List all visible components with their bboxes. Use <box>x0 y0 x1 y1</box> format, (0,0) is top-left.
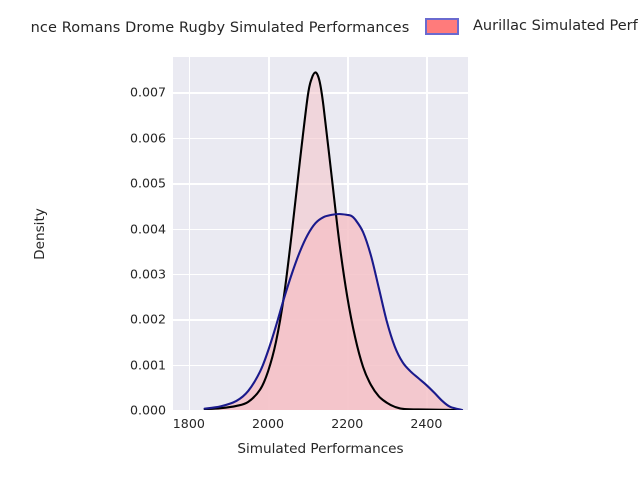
plot-area <box>173 57 468 410</box>
chart-legend: Aurillac Simulated Perf <box>425 12 640 40</box>
density-fill-1 <box>205 214 462 410</box>
y-tick-label-3: 0.003 <box>108 266 166 281</box>
x-tick-label-0: 1800 <box>159 416 219 431</box>
density-curves <box>173 57 468 410</box>
y-tick-label-0: 0.000 <box>108 403 166 418</box>
x-axis-ticks: 1800200022002400 <box>173 416 468 436</box>
x-axis-label: Simulated Performances <box>173 441 468 457</box>
x-tick-label-1: 2000 <box>238 416 298 431</box>
y-tick-label-5: 0.005 <box>108 176 166 191</box>
y-axis-label: Density <box>32 134 48 334</box>
x-tick-label-3: 2400 <box>396 416 456 431</box>
x-tick-label-2: 2200 <box>317 416 377 431</box>
y-tick-label-4: 0.004 <box>108 221 166 236</box>
y-tick-label-6: 0.006 <box>108 130 166 145</box>
y-axis-ticks: 0.0000.0010.0020.0030.0040.0050.0060.007 <box>100 57 166 410</box>
legend-swatch-aurillac <box>425 18 459 35</box>
y-tick-label-1: 0.001 <box>108 357 166 372</box>
y-tick-label-2: 0.002 <box>108 312 166 327</box>
y-tick-label-7: 0.007 <box>108 85 166 100</box>
chart-canvas: nce Romans Drome Rugby Simulated Perform… <box>0 0 640 480</box>
legend-label-aurillac: Aurillac Simulated Perf <box>473 18 638 34</box>
